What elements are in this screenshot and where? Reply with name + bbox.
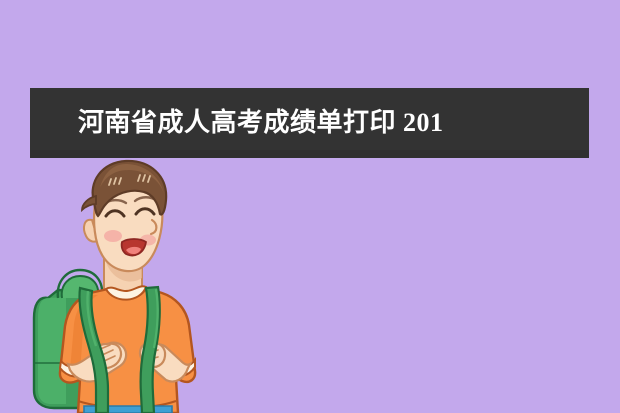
page-title: 河南省成人高考成绩单打印 201 <box>78 102 444 139</box>
cheek-left <box>104 230 122 242</box>
page-root: 河南省成人高考成绩单打印 201 <box>0 0 620 413</box>
title-banner: 河南省成人高考成绩单打印 201 <box>30 88 589 158</box>
student-illustration <box>18 158 248 413</box>
title-banner-footer-strip <box>30 150 589 158</box>
head <box>82 161 166 271</box>
student-with-backpack-icon <box>18 158 248 413</box>
